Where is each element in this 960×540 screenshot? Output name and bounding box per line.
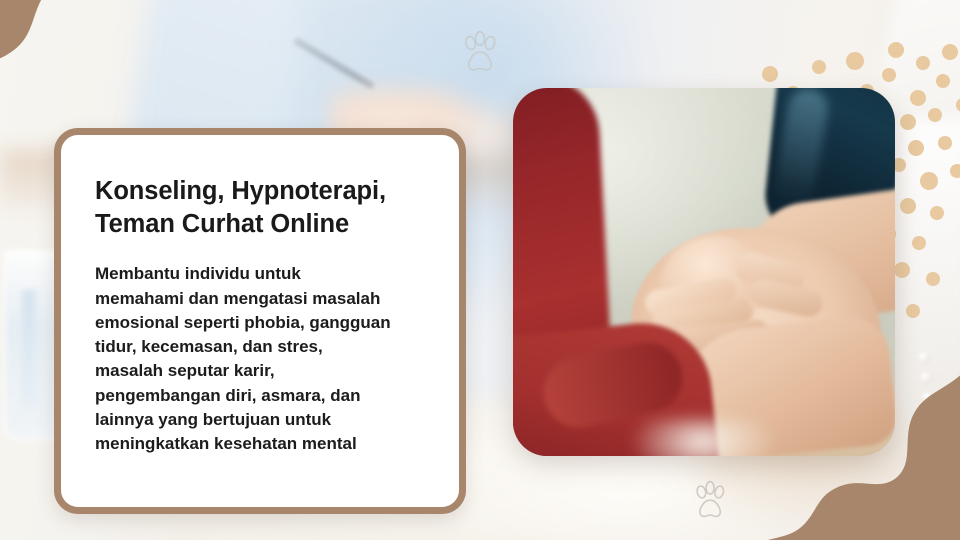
paw-print-icon [458, 30, 504, 83]
dot [900, 114, 916, 130]
dot [938, 136, 952, 150]
paw-print-icon [690, 480, 732, 529]
blob-decoration-top-left [0, 0, 114, 96]
dot [906, 304, 920, 318]
dot [926, 272, 940, 286]
dot [888, 42, 904, 58]
dot [812, 60, 826, 74]
card-body-text: Membantu individu untuk memahami dan men… [95, 262, 425, 456]
blob-decoration-bottom-right [750, 362, 960, 540]
text-card: Konseling, Hypnoterapi, Teman Curhat Onl… [54, 128, 466, 514]
dot [882, 68, 896, 82]
dot [910, 90, 926, 106]
dot [920, 172, 938, 190]
dot [936, 74, 950, 88]
dot [900, 198, 916, 214]
dot [928, 108, 942, 122]
text-card-inner: Konseling, Hypnoterapi, Teman Curhat Onl… [61, 135, 459, 457]
background-water [22, 290, 36, 410]
dot [908, 140, 924, 156]
dot [912, 236, 926, 250]
dot [942, 44, 958, 60]
dot [950, 164, 960, 178]
dot [930, 206, 944, 220]
dot [846, 52, 864, 70]
dot [916, 56, 930, 70]
dot [956, 98, 960, 112]
slide-root: Konseling, Hypnoterapi, Teman Curhat Onl… [0, 0, 960, 540]
page-title: Konseling, Hypnoterapi, Teman Curhat Onl… [95, 175, 425, 240]
dot [894, 262, 910, 278]
dot [762, 66, 778, 82]
